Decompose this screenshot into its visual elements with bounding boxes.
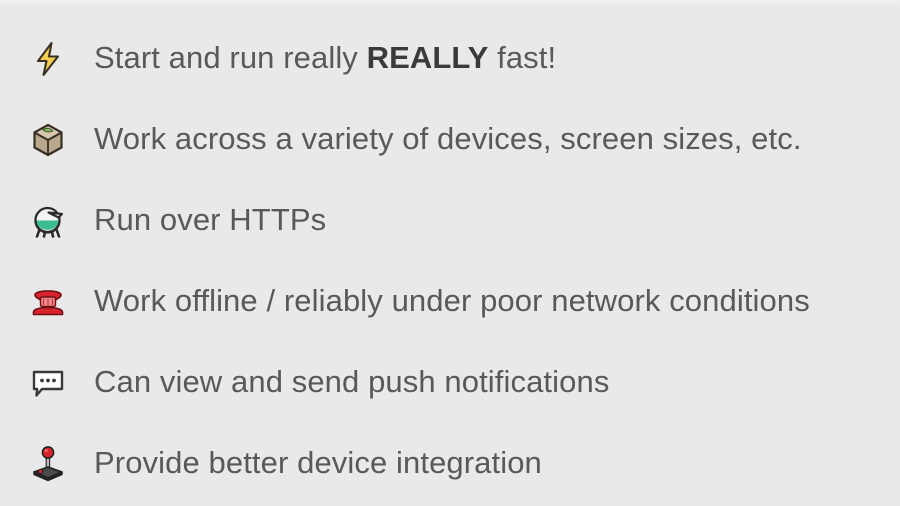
package-box-icon: [26, 118, 70, 162]
bullet-label: Provide better device integration: [94, 446, 542, 480]
cauldron-pot-icon: [26, 199, 70, 243]
bullet-text-before: Provide better device integration: [94, 445, 542, 480]
telephone-icon: [26, 280, 70, 324]
slide-canvas: Start and run really REALLY fast! Work a…: [0, 0, 900, 506]
bullet-text-before: Work across a variety of devices, screen…: [94, 121, 802, 156]
bullet-label: Start and run really REALLY fast!: [94, 41, 556, 75]
feature-bullet-list: Start and run really REALLY fast! Work a…: [0, 18, 900, 504]
bullet-label: Can view and send push notifications: [94, 365, 609, 399]
bullet-text-before: Can view and send push notifications: [94, 364, 609, 399]
list-item: Work offline / reliably under poor netwo…: [0, 261, 900, 342]
list-item: Run over HTTPs: [0, 180, 900, 261]
bullet-text-before: Work offline / reliably under poor netwo…: [94, 283, 810, 318]
joystick-icon: [26, 442, 70, 486]
list-item: Can view and send push notifications: [0, 342, 900, 423]
speech-balloon-icon: [26, 361, 70, 405]
bullet-text-before: Start and run really: [94, 40, 367, 75]
slide-top-edge: [0, 0, 900, 6]
bullet-label: Work across a variety of devices, screen…: [94, 122, 802, 156]
bullet-text-before: Run over HTTPs: [94, 202, 326, 237]
high-voltage-icon: [26, 37, 70, 81]
bullet-text-emphasis: REALLY: [367, 40, 489, 75]
bullet-label: Run over HTTPs: [94, 203, 326, 237]
bullet-text-after: fast!: [488, 40, 556, 75]
list-item: Provide better device integration: [0, 423, 900, 504]
bullet-label: Work offline / reliably under poor netwo…: [94, 284, 810, 318]
list-item: Work across a variety of devices, screen…: [0, 99, 900, 180]
list-item: Start and run really REALLY fast!: [0, 18, 900, 99]
